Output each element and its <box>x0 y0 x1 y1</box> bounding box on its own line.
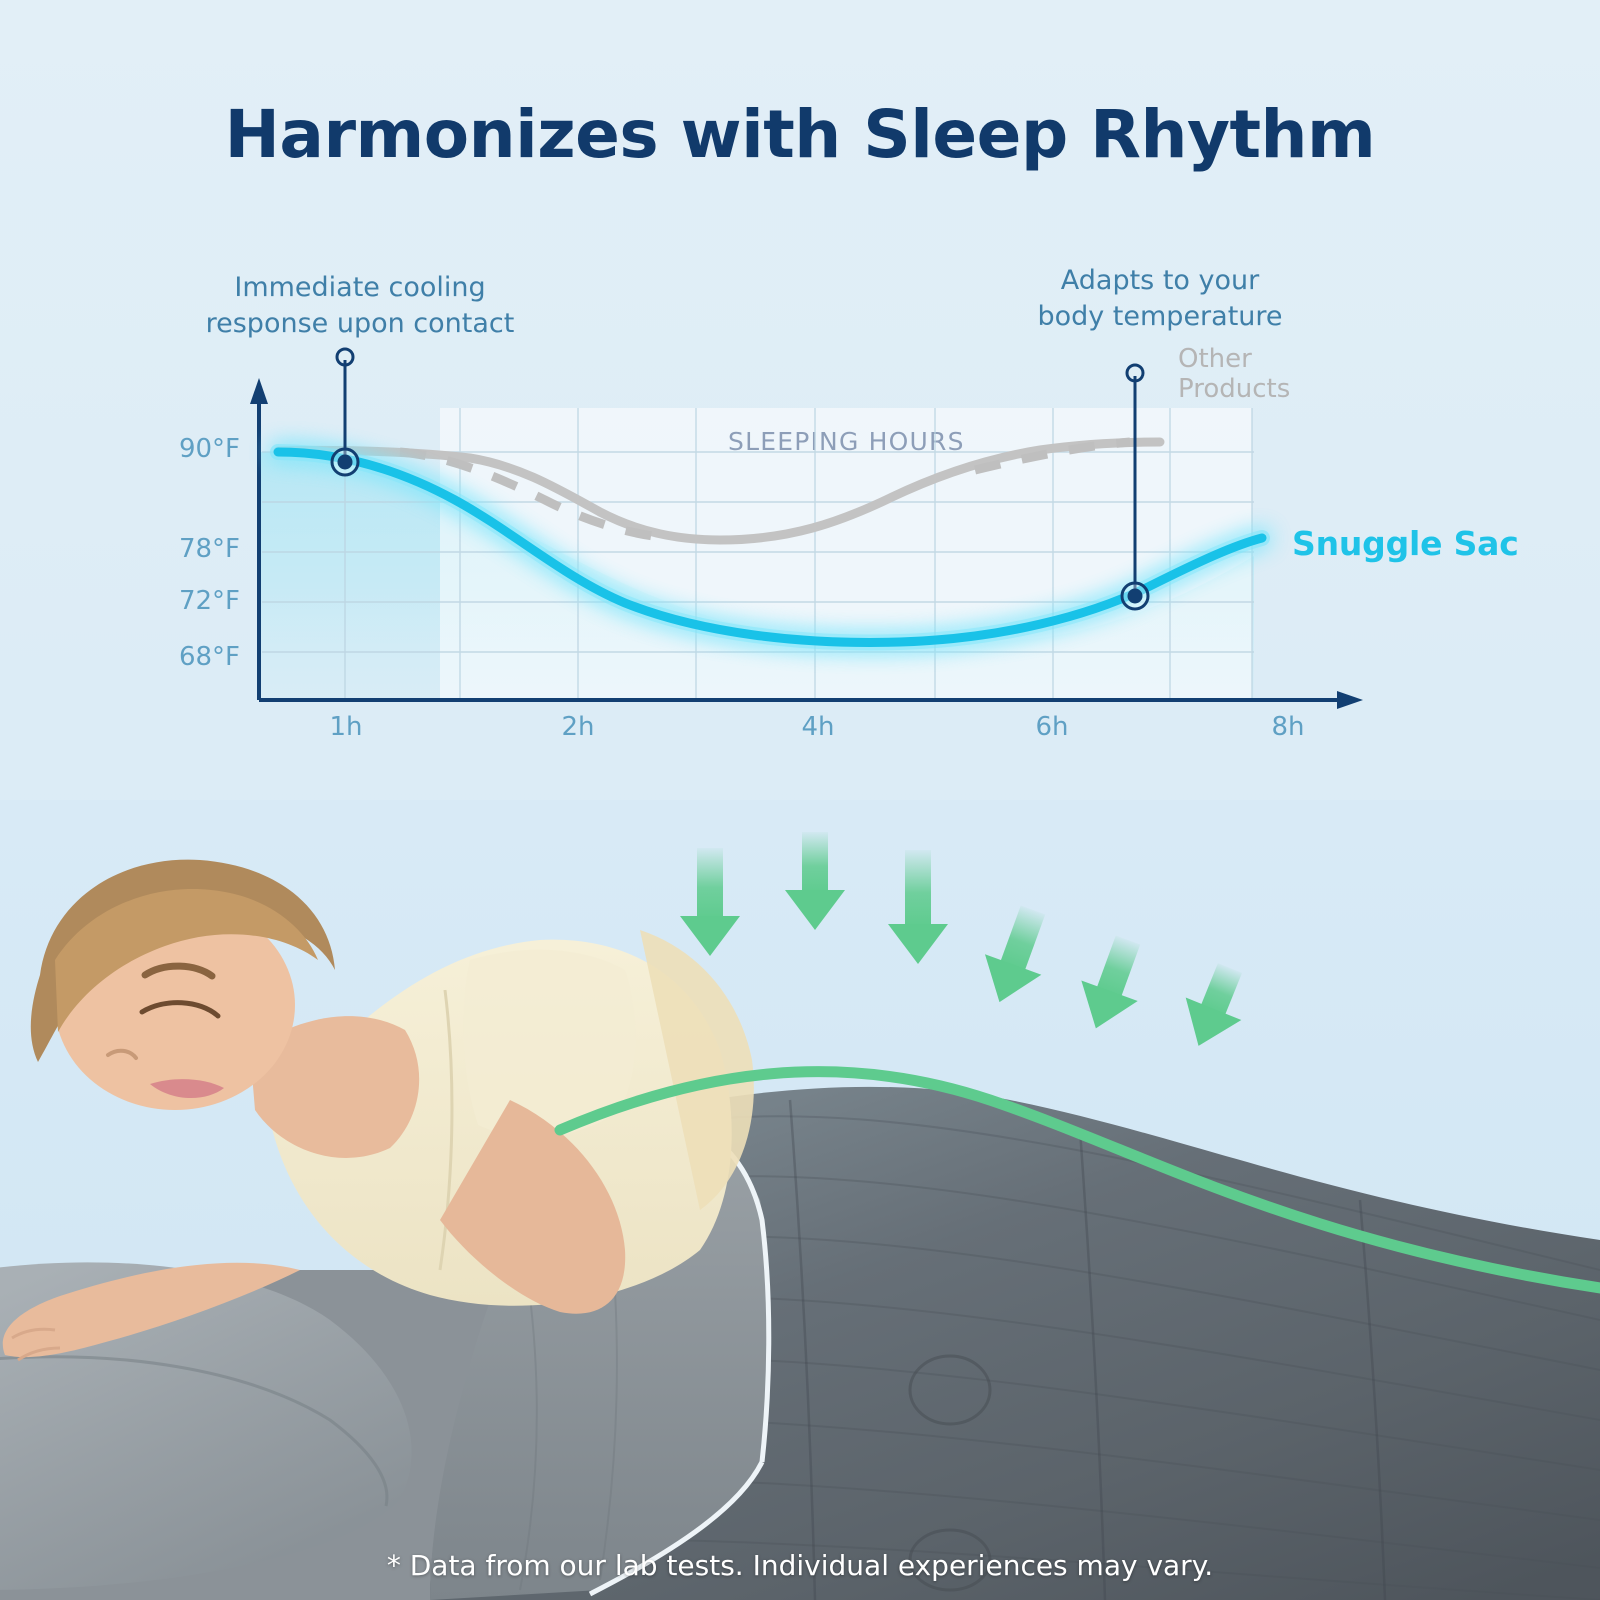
photo-canvas <box>0 800 1600 1600</box>
chart-canvas <box>0 0 1600 800</box>
product-photo-section: * Data from our lab tests. Individual ex… <box>0 800 1600 1600</box>
marker-immediate-cooling[interactable] <box>331 349 359 476</box>
temperature-chart: Immediate cooling response upon contact … <box>0 0 1600 800</box>
footer-disclaimer: * Data from our lab tests. Individual ex… <box>0 1549 1600 1582</box>
